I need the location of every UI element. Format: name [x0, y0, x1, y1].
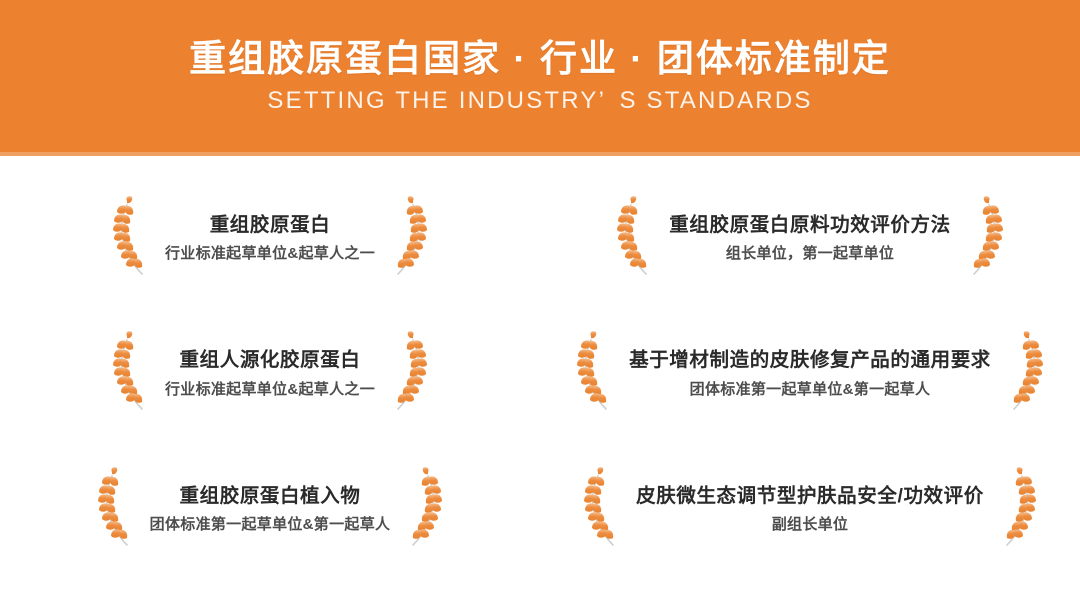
standard-card-text: 重组胶原蛋白 行业标准起草单位&起草人之一: [159, 212, 381, 264]
standard-card-title: 基于增材制造的皮肤修复产品的通用要求: [629, 347, 991, 373]
standard-card: 重组胶原蛋白原料功效评价方法 组长单位，第一起草单位: [540, 170, 1080, 306]
standard-card-title: 皮肤微生态调节型护肤品安全/功效评价: [636, 483, 984, 509]
standard-card-title: 重组胶原蛋白植入物: [180, 483, 361, 509]
wheat-sprig-icon: [94, 466, 140, 552]
wheat-sprig-icon: [994, 466, 1040, 552]
standard-card-subtitle: 组长单位，第一起草单位: [726, 243, 894, 264]
standard-card-title: 重组人源化胶原蛋白: [180, 347, 361, 373]
standard-card-subtitle: 团体标准第一起草单位&第一起草人: [690, 379, 931, 400]
standard-card-subtitle: 团体标准第一起草单位&第一起草人: [150, 514, 391, 535]
page-subtitle-part-2: S STANDARDS: [619, 87, 812, 114]
standard-card: 重组人源化胶原蛋白 行业标准起草单位&起草人之一: [0, 306, 540, 442]
page-subtitle: SETTING THE INDUSTRY’ S STANDARDS: [267, 87, 812, 116]
standards-grid: 重组胶原蛋白 行业标准起草单位&起草人之一: [0, 156, 1080, 607]
wheat-sprig-icon: [961, 195, 1007, 281]
wheat-sprig-icon: [573, 330, 619, 416]
standard-card-text: 重组人源化胶原蛋白 行业标准起草单位&起草人之一: [159, 347, 381, 399]
wheat-sprig-icon: [109, 330, 155, 416]
standard-card: 重组胶原蛋白植入物 团体标准第一起草单位&第一起草人: [0, 441, 540, 577]
wheat-sprig-icon: [385, 330, 431, 416]
page-subtitle-part-1: SETTING THE INDUSTRY’: [267, 87, 606, 114]
standard-card-text: 皮肤微生态调节型护肤品安全/功效评价 副组长单位: [630, 483, 990, 535]
standard-card: 皮肤微生态调节型护肤品安全/功效评价 副组长单位: [540, 441, 1080, 577]
standard-card-title: 重组胶原蛋白原料功效评价方法: [669, 212, 950, 238]
standard-card-title: 重组胶原蛋白: [210, 212, 331, 238]
standard-card: 基于增材制造的皮肤修复产品的通用要求 团体标准第一起草单位&第一起草人: [540, 306, 1080, 442]
standard-card-text: 基于增材制造的皮肤修复产品的通用要求 团体标准第一起草单位&第一起草人: [623, 347, 997, 399]
slide-root: 重组胶原蛋白国家 · 行业 · 团体标准制定 SETTING THE INDUS…: [0, 0, 1080, 607]
standard-card-subtitle: 副组长单位: [772, 514, 849, 535]
wheat-sprig-icon: [1001, 330, 1047, 416]
wheat-sprig-icon: [400, 466, 446, 552]
wheat-sprig-icon: [109, 195, 155, 281]
standard-card-subtitle: 行业标准起草单位&起草人之一: [165, 243, 375, 264]
page-subtitle-spacer: [606, 87, 619, 114]
standard-card-text: 重组胶原蛋白原料功效评价方法 组长单位，第一起草单位: [663, 212, 956, 264]
standard-card: 重组胶原蛋白 行业标准起草单位&起草人之一: [0, 170, 540, 306]
wheat-sprig-icon: [613, 195, 659, 281]
page-title: 重组胶原蛋白国家 · 行业 · 团体标准制定: [189, 36, 891, 82]
standard-card-text: 重组胶原蛋白植入物 团体标准第一起草单位&第一起草人: [144, 483, 397, 535]
wheat-sprig-icon: [385, 195, 431, 281]
header-content: 重组胶原蛋白国家 · 行业 · 团体标准制定 SETTING THE INDUS…: [0, 0, 1080, 152]
wheat-sprig-icon: [580, 466, 626, 552]
standard-card-subtitle: 行业标准起草单位&起草人之一: [165, 379, 375, 400]
